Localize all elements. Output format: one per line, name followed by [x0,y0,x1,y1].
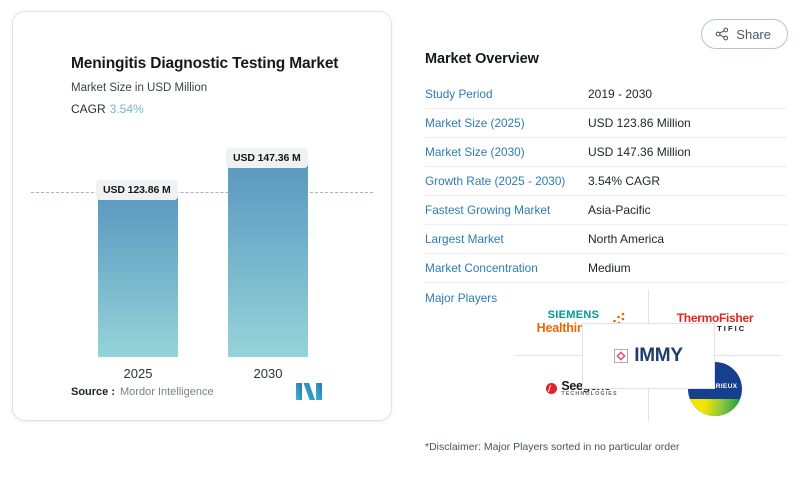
row-value: Medium [588,261,631,275]
immy-diamond-icon [614,349,628,363]
row-label: Fastest Growing Market [425,203,588,217]
row-label: Study Period [425,87,588,101]
immy-wordmark: IMMY [634,345,682,367]
axis-label-2030: 2030 [228,366,308,381]
share-button[interactable]: Share [701,19,788,49]
table-row: Market Size (2025) USD 123.86 Million [425,109,787,138]
source-line: Source :Mordor Intelligence [71,386,214,398]
row-value: 2019 - 2030 [588,87,652,101]
row-label: Market Size (2025) [425,116,588,130]
source-label: Source : [71,386,115,398]
axis-label-2025: 2025 [98,366,178,381]
row-label: Growth Rate (2025 - 2030) [425,174,588,188]
row-label: Market Size (2030) [425,145,588,159]
chart-card: Meningitis Diagnostic Testing Market Mar… [13,12,391,420]
row-value: 3.54% CAGR [588,174,660,188]
market-overview-table: Study Period 2019 - 2030 Market Size (20… [425,80,787,313]
row-label: Market Concentration [425,261,588,275]
row-label: Largest Market [425,232,588,246]
table-row: Study Period 2019 - 2030 [425,80,787,109]
seegene-tagline: TECHNOLOGIES [561,392,617,397]
siemens-wordmark: SIEMENS [537,310,610,322]
row-value: USD 123.86 Million [588,116,691,130]
table-row: Market Size (2030) USD 147.36 Million [425,138,787,167]
major-players-logo-grid: SIEMENS Healthineers ThermoFisher [516,290,781,421]
mordor-intelligence-logo-icon [294,380,324,402]
table-row: Market Concentration Medium [425,254,787,283]
overview-panel: Share Market Overview Study Period 2019 … [412,0,800,482]
share-nodes-icon [715,27,729,41]
seegene-mark-icon [546,383,557,394]
biomerieux-arc-icon [688,399,742,416]
value-badge-2025: USD 123.86 M [96,180,178,200]
reference-line [31,192,373,193]
table-row: Largest Market North America [425,225,787,254]
table-row: Growth Rate (2025 - 2030) 3.54% CAGR [425,167,787,196]
biomerieux-wordmark: BIOMÉRIEUX [693,383,738,390]
bar-2025[interactable] [98,192,178,357]
market-summary-page: Meningitis Diagnostic Testing Market Mar… [0,0,800,482]
share-button-label: Share [736,27,771,42]
row-value: USD 147.36 Million [588,145,691,159]
source-value: Mordor Intelligence [120,386,214,398]
page-title: Market Overview [425,51,539,67]
value-badge-2030: USD 147.36 M [226,148,308,168]
row-value: North America [588,232,664,246]
disclaimer-text: *Disclaimer: Major Players sorted in no … [425,441,679,453]
player-logo-immy: IMMY [582,323,715,389]
table-row: Fastest Growing Market Asia-Pacific [425,196,787,225]
row-value: Asia-Pacific [588,203,651,217]
bar-chart-plot: USD 123.86 M USD 147.36 M 2025 2030 [13,12,391,420]
bar-2030[interactable] [228,160,308,357]
